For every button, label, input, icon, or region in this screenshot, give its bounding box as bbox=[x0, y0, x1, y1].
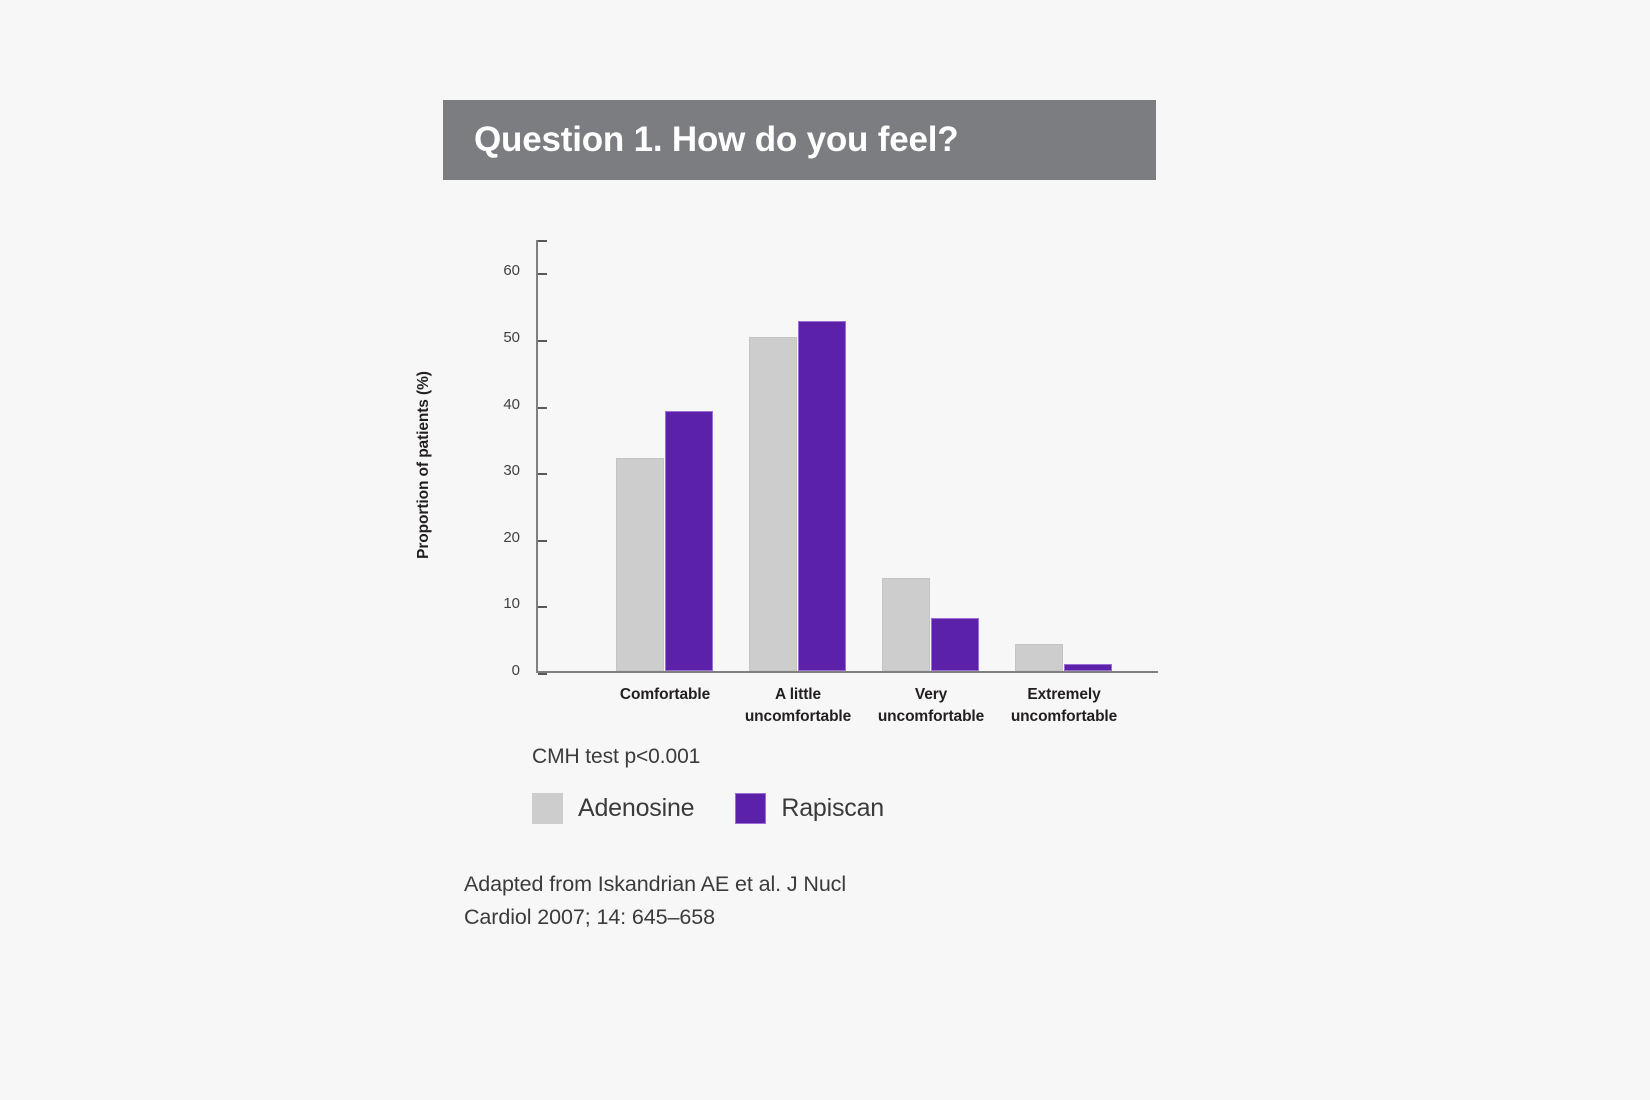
bar-rapiscan-comfortable[interactable] bbox=[665, 411, 713, 671]
legend-item-rapiscan: Rapiscan bbox=[735, 793, 884, 824]
citation-line-1: Adapted from Iskandrian AE et al. J Nucl bbox=[464, 868, 884, 901]
y-tick-label: 40 bbox=[503, 396, 520, 413]
bar-rapiscan-extremely-uncomfortable[interactable] bbox=[1064, 664, 1112, 672]
x-axis-line bbox=[536, 671, 1158, 673]
y-tick-label: 10 bbox=[503, 595, 520, 612]
chart-legend: Adenosine Rapiscan bbox=[532, 793, 884, 824]
citation: Adapted from Iskandrian AE et al. J Nucl… bbox=[464, 868, 884, 935]
title-banner: Question 1. How do you feel? bbox=[443, 100, 1156, 180]
y-tick-label: 50 bbox=[503, 329, 520, 346]
legend-swatch-rapiscan bbox=[735, 793, 766, 824]
y-tick-label: 0 bbox=[512, 662, 520, 679]
x-tick-label-extremely-uncomfortable: Extremely uncomfortable bbox=[979, 684, 1149, 728]
y-tick-label: 60 bbox=[503, 262, 520, 279]
y-tick-label: 20 bbox=[503, 529, 520, 546]
bar-adenosine-very-uncomfortable[interactable] bbox=[882, 578, 930, 671]
bar-chart-figure: Proportion of patients (%) 0 10 20 30 bbox=[443, 215, 1203, 755]
plot-area: 0 10 20 30 40 50 bbox=[536, 240, 1158, 673]
y-axis-label: Proportion of patients (%) bbox=[415, 315, 433, 615]
bar-adenosine-extremely-uncomfortable[interactable] bbox=[1015, 644, 1063, 671]
y-tick-label: 30 bbox=[503, 462, 520, 479]
cmh-test-annotation: CMH test p<0.001 bbox=[532, 745, 700, 769]
slide-canvas: Question 1. How do you feel? Proportion … bbox=[0, 0, 1650, 1100]
citation-line-2: Cardiol 2007; 14: 645–658 bbox=[464, 901, 884, 934]
legend-item-adenosine: Adenosine bbox=[532, 793, 694, 824]
page-title: Question 1. How do you feel? bbox=[443, 120, 958, 160]
legend-label-rapiscan: Rapiscan bbox=[781, 794, 884, 823]
legend-label-adenosine: Adenosine bbox=[578, 794, 694, 823]
bar-rapiscan-a-little-uncomfortable[interactable] bbox=[798, 321, 846, 671]
bar-adenosine-a-little-uncomfortable[interactable] bbox=[749, 337, 797, 671]
legend-swatch-adenosine bbox=[532, 793, 563, 824]
bar-rapiscan-very-uncomfortable[interactable] bbox=[931, 618, 979, 671]
bar-adenosine-comfortable[interactable] bbox=[616, 458, 664, 671]
